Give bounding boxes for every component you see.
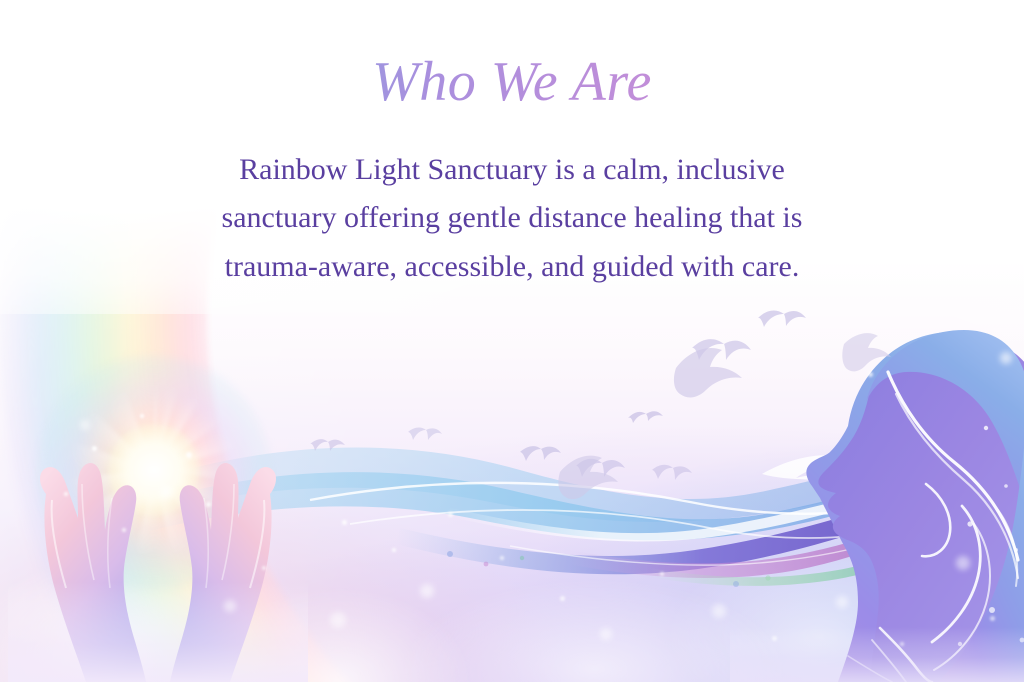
page-title: Who We Are [0, 52, 1024, 114]
intro-line-3: trauma-aware, accessible, and guided wit… [132, 243, 892, 292]
intro-line-1: Rainbow Light Sanctuary is a calm, inclu… [132, 146, 892, 195]
background-lower-wash [0, 286, 1024, 682]
intro-line-2: sanctuary offering gentle distance heali… [132, 194, 892, 243]
text-block: Who We Are Rainbow Light Sanctuary is a … [0, 0, 1024, 291]
hero-banner: Who We Are Rainbow Light Sanctuary is a … [0, 0, 1024, 682]
intro-paragraph: Rainbow Light Sanctuary is a calm, inclu… [132, 146, 892, 292]
